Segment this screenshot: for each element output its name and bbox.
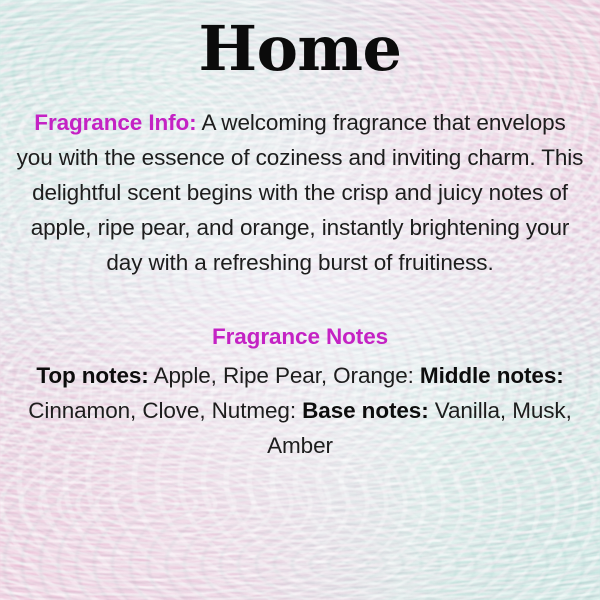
content-area: Home Fragrance Info: A welcoming fragran… xyxy=(0,0,600,600)
top-notes-value: Apple, Ripe Pear, Orange: xyxy=(149,363,420,388)
fragrance-info-label: Fragrance Info: xyxy=(34,110,196,135)
middle-notes-label: Middle notes: xyxy=(420,363,564,388)
fragrance-notes-paragraph: Top notes: Apple, Ripe Pear, Orange: Mid… xyxy=(12,358,588,463)
fragrance-info-paragraph: Fragrance Info: A welcoming fragrance th… xyxy=(12,105,588,280)
middle-notes-value: Cinnamon, Clove, Nutmeg: xyxy=(28,398,302,423)
top-notes-label: Top notes: xyxy=(36,363,148,388)
base-notes-label: Base notes: xyxy=(302,398,428,423)
fragrance-home-card: Home Fragrance Info: A welcoming fragran… xyxy=(0,0,600,600)
page-title: Home xyxy=(12,0,588,83)
fragrance-notes-heading: Fragrance Notes xyxy=(12,322,588,352)
